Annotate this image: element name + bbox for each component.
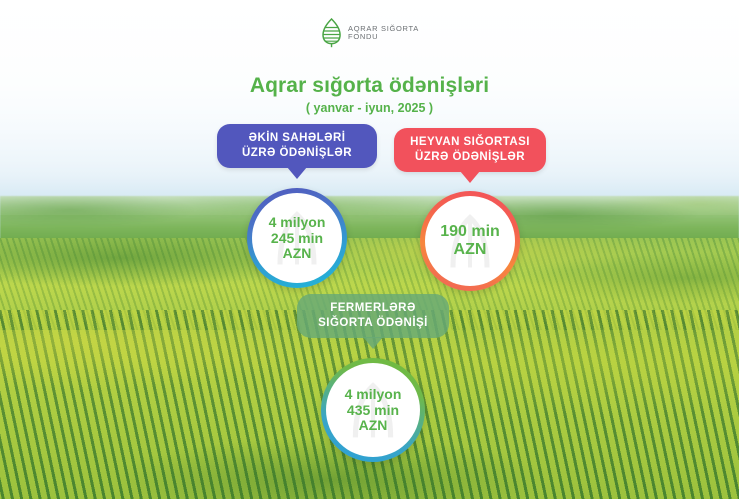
metric-livestock: HEYVAN SIĞORTASI ÜZRƏ ÖDƏNİŞLƏR 190 min … [394, 128, 546, 291]
value-crops: 4 milyon 245 min AZN [269, 215, 326, 262]
value-farmers-line-2: 435 min [345, 403, 402, 419]
value-livestock: 190 min AZN [440, 223, 500, 259]
value-ring-livestock-inner: 190 min AZN [425, 196, 515, 286]
value-ring-crops-inner: 4 milyon 245 min AZN [252, 193, 342, 283]
value-crops-line-3: AZN [269, 246, 326, 262]
value-ring-farmers: 4 milyon 435 min AZN [321, 358, 425, 462]
badge-farmers-line-1: FERMERLƏRƏ [310, 301, 436, 316]
value-farmers-line-3: AZN [345, 418, 402, 434]
value-ring-crops: 4 milyon 245 min AZN [247, 188, 347, 288]
badge-livestock-pointer [460, 171, 480, 183]
badge-crops-line-2: ÜZRƏ ÖDƏNİŞLƏR [230, 146, 364, 161]
value-crops-line-2: 245 min [269, 231, 326, 247]
value-farmers-line-1: 4 milyon [345, 387, 402, 403]
brand-logo: AQRAR SIĞORTA FONDU [320, 18, 419, 48]
badge-crops-line-1: ƏKİN SAHƏLƏRİ [230, 131, 364, 146]
badge-livestock: HEYVAN SIĞORTASI ÜZRƏ ÖDƏNİŞLƏR [394, 128, 546, 172]
badge-farmers-line-2: SIĞORTA ÖDƏNİŞİ [310, 316, 436, 331]
badge-crops-pointer [287, 167, 307, 179]
metric-crops: ƏKİN SAHƏLƏRİ ÜZRƏ ÖDƏNİŞLƏR 4 milyon 24… [217, 124, 377, 288]
value-livestock-line-1: 190 min [440, 223, 500, 241]
value-ring-farmers-inner: 4 milyon 435 min AZN [326, 363, 420, 457]
badge-livestock-line-2: ÜZRƏ ÖDƏNİŞLƏR [407, 150, 533, 165]
badge-farmers-pointer [363, 337, 383, 349]
badge-livestock-line-1: HEYVAN SIĞORTASI [407, 135, 533, 150]
metric-farmers: FERMERLƏRƏ SIĞORTA ÖDƏNİŞİ 4 milyon 435 … [297, 294, 449, 462]
value-crops-line-1: 4 milyon [269, 215, 326, 231]
value-farmers: 4 milyon 435 min AZN [345, 387, 402, 434]
infographic-canvas: AQRAR SIĞORTA FONDU Aqrar sığorta ödəniş… [0, 0, 739, 499]
page-title: Aqrar sığorta ödənişləri [0, 74, 739, 98]
brand-wordmark: AQRAR SIĞORTA FONDU [348, 25, 419, 42]
badge-crops: ƏKİN SAHƏLƏRİ ÜZRƏ ÖDƏNİŞLƏR [217, 124, 377, 168]
brand-line-2: FONDU [348, 33, 419, 41]
badge-farmers: FERMERLƏRƏ SIĞORTA ÖDƏNİŞİ [297, 294, 449, 338]
page-subtitle: ( yanvar - iyun, 2025 ) [0, 101, 739, 115]
value-ring-livestock: 190 min AZN [420, 191, 520, 291]
leaf-icon [320, 18, 342, 48]
value-livestock-line-2: AZN [440, 241, 500, 259]
